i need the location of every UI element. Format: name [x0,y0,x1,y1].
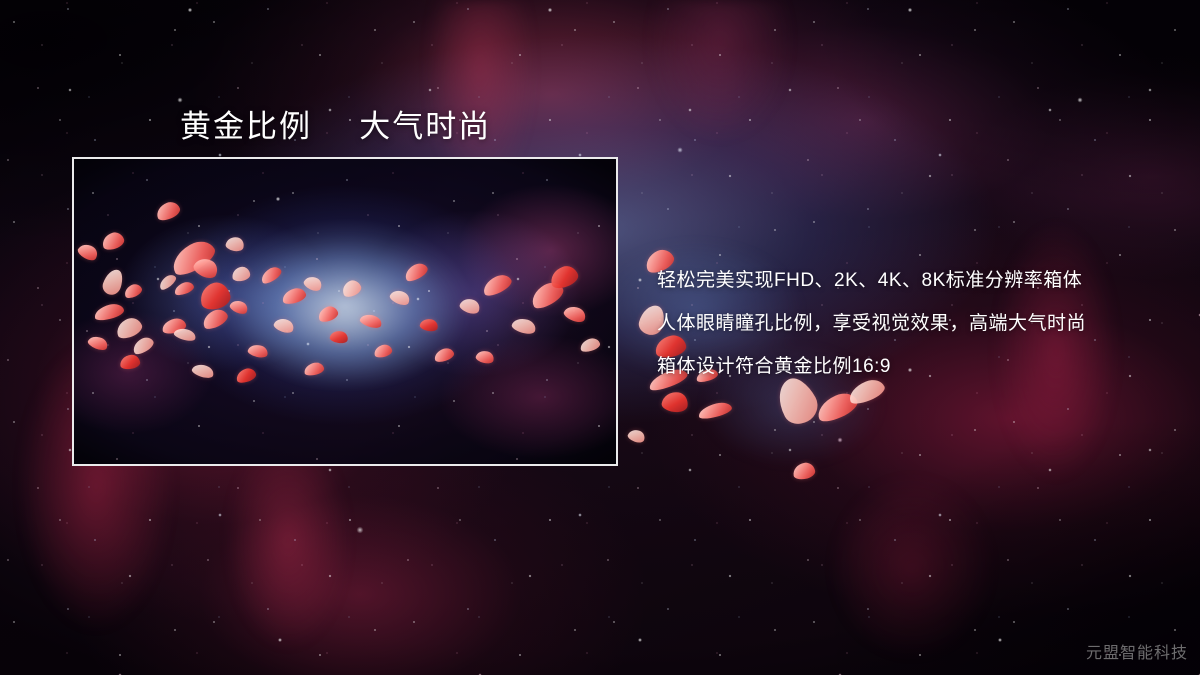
body-line: 人体眼睛瞳孔比例，享受视觉效果，高端大气时尚 [657,302,1177,345]
photo-starfield-faint [74,159,616,464]
page-title: 黄金比例 大气时尚 [180,101,491,146]
image-frame [72,157,618,466]
headline-part-2: 大气时尚 [359,109,491,144]
body-copy: 轻松完美实现FHD、2K、4K、8K标准分辨率箱体 人体眼睛瞳孔比例，享受视觉效… [657,259,1177,388]
headline-part-1: 黄金比例 [180,109,312,144]
body-line: 箱体设计符合黄金比例16:9 [657,345,1177,388]
watermark: 元盟智能科技 [1086,639,1188,663]
body-line: 轻松完美实现FHD、2K、4K、8K标准分辨率箱体 [657,259,1177,302]
slide-canvas: 黄金比例 大气时尚 轻松完美实现FHD、2K、4K、8K标准分辨率箱体 人体眼睛… [0,0,1200,675]
